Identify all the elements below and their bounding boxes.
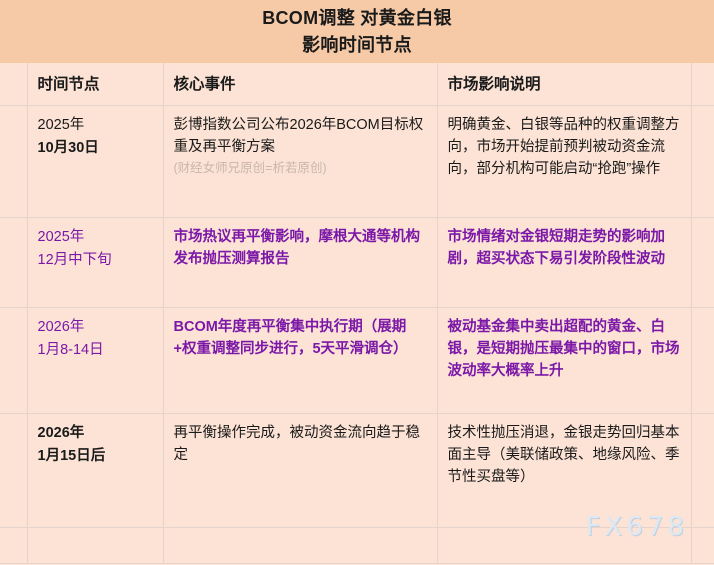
cell-event: 市场热议再平衡影响，摩根大通等机构发布抛压测算报告 <box>163 217 437 307</box>
cell-time: 2026年 1月8-14日 <box>27 307 163 413</box>
time-line-1: 2026年 <box>38 422 154 445</box>
row-gutter-left <box>0 217 27 307</box>
cell-time-content: 2026年 1月15日后 <box>28 414 163 476</box>
cell-time: 2025年 12月中下旬 <box>27 217 163 307</box>
cell-event: BCOM年度再平衡集中执行期（展期+权重调整同步进行，5天平滑调仓） <box>163 307 437 413</box>
spreadsheet-canvas: BCOM调整 对黄金白银 影响时间节点 时间节点 核心事件 市场影响说明 <box>0 0 714 565</box>
cell-event-content: 再平衡操作完成，被动资金流向趋于稳定 <box>164 414 437 474</box>
cell-impact-content: 被动基金集中卖出超配的黄金、白银，是短期抛压最集中的窗口，市场波动率大概率上升 <box>438 308 691 390</box>
row-gutter-left <box>0 105 27 217</box>
time-line-1: 2025年 <box>38 114 154 137</box>
time-line-2: 1月15日后 <box>38 445 154 468</box>
cell-impact <box>437 527 691 563</box>
cell-time: 2025年 10月30日 <box>27 105 163 217</box>
cell-impact-content: 市场情绪对金银短期走势的影响加剧，超买状态下易引发阶段性波动 <box>438 218 691 278</box>
row-gutter-left <box>0 413 27 527</box>
time-line-1: 2025年 <box>38 226 154 249</box>
cell-time-content: 2025年 12月中下旬 <box>28 218 163 280</box>
cell-event <box>163 527 437 563</box>
time-line-2: 12月中下旬 <box>38 249 154 272</box>
cell-impact: 明确黄金、白银等品种的权重调整方向，市场开始提前预判被动资金流向，部分机构可能启… <box>437 105 691 217</box>
column-header-time-label: 时间节点 <box>28 63 163 94</box>
column-header-time: 时间节点 <box>27 63 163 105</box>
time-line-2: 1月8-14日 <box>38 339 154 362</box>
table-row: 2025年 12月中下旬 市场热议再平衡影响，摩根大通等机构发布抛压测算报告 市… <box>0 217 714 307</box>
column-header-event-label: 核心事件 <box>164 63 437 94</box>
gutter-cell-right <box>691 63 714 105</box>
page-title-line-2: 影响时间节点 <box>302 32 412 59</box>
table-row-empty <box>0 527 714 563</box>
cell-event: 再平衡操作完成，被动资金流向趋于稳定 <box>163 413 437 527</box>
column-header-event: 核心事件 <box>163 63 437 105</box>
cell-event-content: 彭博指数公司公布2026年BCOM目标权重及再平衡方案 (财经女师兄原创=析若原… <box>164 106 437 186</box>
cell-time <box>27 527 163 563</box>
row-gutter-right <box>691 105 714 217</box>
gutter-cell-left <box>0 63 27 105</box>
cell-time-content: 2026年 1月8-14日 <box>28 308 163 370</box>
cell-impact: 市场情绪对金银短期走势的影响加剧，超买状态下易引发阶段性波动 <box>437 217 691 307</box>
event-watermark-text: (财经女师兄原创=析若原创) <box>174 159 428 178</box>
table-header-row: 时间节点 核心事件 市场影响说明 <box>0 63 714 105</box>
row-gutter-left <box>0 527 27 563</box>
row-gutter-right <box>691 527 714 563</box>
table-row: 2026年 1月8-14日 BCOM年度再平衡集中执行期（展期+权重调整同步进行… <box>0 307 714 413</box>
cell-time-content: 2025年 10月30日 <box>28 106 163 168</box>
cell-event: 彭博指数公司公布2026年BCOM目标权重及再平衡方案 (财经女师兄原创=析若原… <box>163 105 437 217</box>
event-text: 彭博指数公司公布2026年BCOM目标权重及再平衡方案 <box>174 117 424 155</box>
time-line-2: 10月30日 <box>38 137 154 160</box>
cell-event-content: BCOM年度再平衡集中执行期（展期+权重调整同步进行，5天平滑调仓） <box>164 308 437 368</box>
time-line-1: 2026年 <box>38 316 154 339</box>
cell-impact-content: 明确黄金、白银等品种的权重调整方向，市场开始提前预判被动资金流向，部分机构可能启… <box>438 106 691 188</box>
cell-impact: 被动基金集中卖出超配的黄金、白银，是短期抛压最集中的窗口，市场波动率大概率上升 <box>437 307 691 413</box>
row-gutter-right <box>691 217 714 307</box>
cell-event-content: 市场热议再平衡影响，摩根大通等机构发布抛压测算报告 <box>164 218 437 278</box>
column-header-impact: 市场影响说明 <box>437 63 691 105</box>
column-header-impact-label: 市场影响说明 <box>438 63 691 94</box>
table-row: 2026年 1月15日后 再平衡操作完成，被动资金流向趋于稳定 技术性抛压消退，… <box>0 413 714 527</box>
cell-time: 2026年 1月15日后 <box>27 413 163 527</box>
row-gutter-right <box>691 413 714 527</box>
row-gutter-left <box>0 307 27 413</box>
timeline-table: 时间节点 核心事件 市场影响说明 2025年 10月30日 <box>0 63 714 564</box>
table-row: 2025年 10月30日 彭博指数公司公布2026年BCOM目标权重及再平衡方案… <box>0 105 714 217</box>
page-title: BCOM调整 对黄金白银 影响时间节点 <box>0 0 714 63</box>
page-title-line-1: BCOM调整 对黄金白银 <box>262 5 452 32</box>
cell-impact-content: 技术性抛压消退，金银走势回归基本面主导（美联储政策、地缘风险、季节性买盘等） <box>438 414 691 496</box>
cell-impact: 技术性抛压消退，金银走势回归基本面主导（美联储政策、地缘风险、季节性买盘等） <box>437 413 691 527</box>
row-gutter-right <box>691 307 714 413</box>
